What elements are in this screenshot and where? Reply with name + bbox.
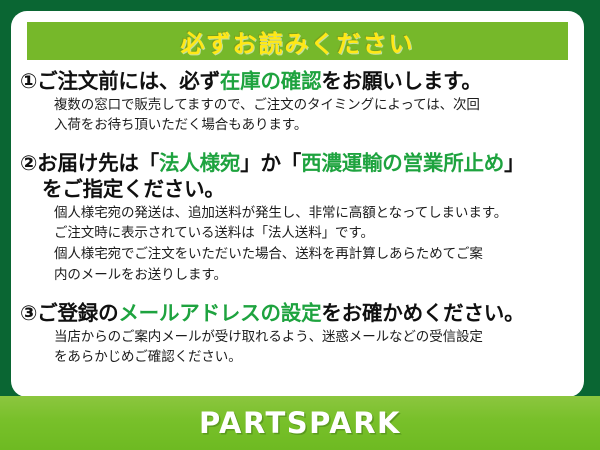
notice-item-1-heading-highlight: 在庫の確認 (220, 69, 322, 93)
notice-item-2-heading: ②お届け先は「法人様宛」か「西濃運輸の営業所止め」 (20, 150, 576, 177)
notice-item-2-heading-line2: をご指定ください。 (20, 176, 576, 203)
notice-item-3-heading-part2: をお確かめください。 (321, 301, 524, 325)
notice-card: 必ずお読みください ①ご注文前には、必ず在庫の確認をお願いします。 複数の窓口で… (11, 11, 584, 397)
notice-item-1-note-line-1: 複数の窓口で販売してますので、ご注文のタイミングによっては、次回 (54, 95, 576, 116)
page-title: 必ずお読みください (181, 24, 415, 59)
brand-wordmark: PARTSPARK (199, 406, 401, 440)
notice-item-2-heading-part2: 」か「 (240, 151, 301, 175)
notice-item-1-note: 複数の窓口で販売してますので、ご注文のタイミングによっては、次回 入荷をお待ち頂… (20, 95, 576, 136)
notice-item-1-marker: ① (20, 69, 37, 93)
notice-item-3-note-line-2: をあらかじめご確認ください。 (54, 347, 576, 368)
title-bar: 必ずお読みください (27, 22, 568, 60)
notice-item-2: ②お届け先は「法人様宛」か「西濃運輸の営業所止め」 をご指定ください。 個人様宅… (20, 150, 576, 285)
notice-item-3-heading-highlight: メールアドレスの設定 (118, 301, 321, 325)
notice-item-2-note-line-4: 内のメールをお送りします。 (54, 265, 576, 286)
notice-item-2-heading-part1: お届け先は「 (37, 151, 159, 175)
notice-item-2-heading-highlight-1: 法人様宛 (159, 151, 240, 175)
notice-item-1: ①ご注文前には、必ず在庫の確認をお願いします。 複数の窓口で販売してますので、ご… (20, 68, 576, 136)
notice-item-2-note-line-1: 個人様宅宛の発送は、追加送料が発生し、非常に高額となってしまいます。 (54, 203, 576, 224)
notice-item-2-marker: ② (20, 151, 37, 175)
notice-banner: 必ずお読みください ①ご注文前には、必ず在庫の確認をお願いします。 複数の窓口で… (0, 0, 600, 450)
notice-item-3: ③ご登録のメールアドレスの設定をお確かめください。 当店からのご案内メールが受け… (20, 300, 576, 368)
notice-item-3-heading: ③ご登録のメールアドレスの設定をお確かめください。 (20, 300, 576, 327)
notice-item-2-note-line-3: 個人様宅宛でご注文をいただいた場合、送料を再計算しあらためてご案 (54, 244, 576, 265)
notice-item-2-heading-highlight-2: 西濃運輸の営業所止め (301, 151, 504, 175)
notice-item-3-note-line-1: 当店からのご案内メールが受け取れるよう、迷惑メールなどの受信設定 (54, 327, 576, 348)
notice-item-1-heading-part2: をお願いします。 (321, 69, 481, 93)
notice-item-1-heading-part1: ご注文前には、必ず (37, 69, 220, 93)
notice-item-3-note: 当店からのご案内メールが受け取れるよう、迷惑メールなどの受信設定 をあらかじめご… (20, 327, 576, 368)
notice-item-3-marker: ③ (20, 301, 37, 325)
notice-list: ①ご注文前には、必ず在庫の確認をお願いします。 複数の窓口で販売してますので、ご… (11, 66, 584, 376)
footer-strip: PARTSPARK (0, 396, 600, 450)
notice-item-2-note: 個人様宅宛の発送は、追加送料が発生し、非常に高額となってしまいます。 ご注文時に… (20, 203, 576, 285)
notice-item-2-heading-part3: 」 (504, 151, 524, 175)
notice-item-3-heading-part1: ご登録の (37, 301, 118, 325)
notice-item-2-note-line-2: ご注文時に表示されている送料は「法人送料」です。 (54, 223, 576, 244)
notice-item-1-note-line-2: 入荷をお待ち頂いただく場合もあります。 (54, 115, 576, 136)
notice-item-1-heading: ①ご注文前には、必ず在庫の確認をお願いします。 (20, 68, 576, 95)
